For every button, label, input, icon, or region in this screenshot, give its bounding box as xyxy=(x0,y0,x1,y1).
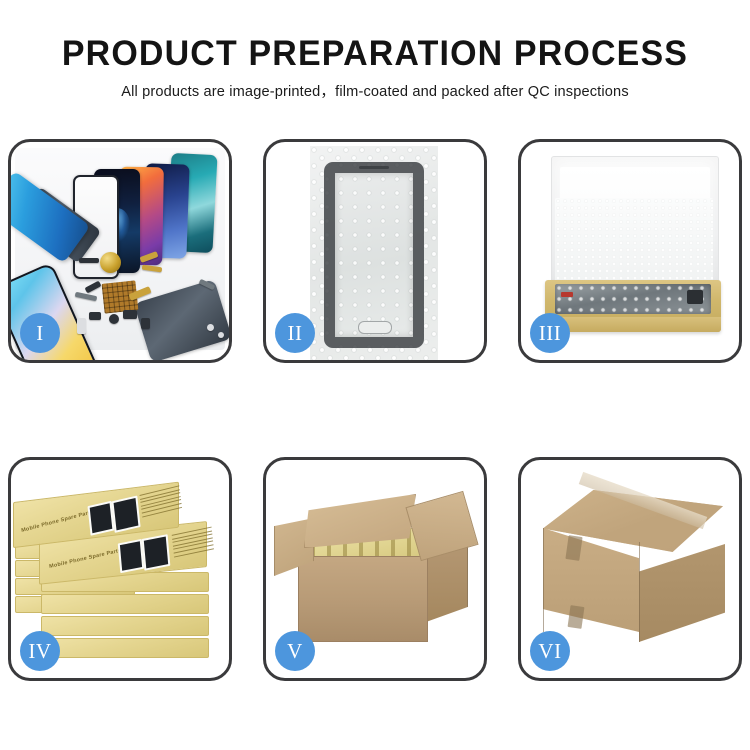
step-panel-4[interactable]: Mobile Phone Spare Parts Mobile Phone Sp… xyxy=(8,457,232,681)
step-badge: IV xyxy=(20,631,60,671)
camera-module xyxy=(123,310,137,319)
button-part xyxy=(109,314,119,324)
sim-tray xyxy=(77,318,86,334)
label-sticker xyxy=(561,292,573,297)
connector-block xyxy=(687,290,703,304)
step-badge: VI xyxy=(530,631,570,671)
page-title: PRODUCT PREPARATION PROCESS xyxy=(11,0,739,73)
carton-edge-seam xyxy=(543,528,544,632)
step-panel-6[interactable]: VI xyxy=(518,457,742,681)
stacked-box xyxy=(41,594,207,612)
small-part xyxy=(89,312,101,320)
step-badge: III xyxy=(530,313,570,353)
step-badge: V xyxy=(275,631,315,671)
box-window-screen xyxy=(142,534,171,571)
box-front-edge xyxy=(545,317,721,332)
small-part xyxy=(141,318,150,329)
carton-right-face xyxy=(639,544,725,642)
small-part xyxy=(79,258,99,263)
stacked-box xyxy=(41,616,207,634)
step-badge: I xyxy=(20,313,60,353)
foam-padding xyxy=(555,198,713,282)
step-panel-1[interactable]: I xyxy=(8,139,232,363)
step-panel-3[interactable]: III xyxy=(518,139,742,363)
carton-front-panel xyxy=(298,556,428,642)
page-subtitle: All products are image-printed，film-coat… xyxy=(0,73,750,102)
speaker-coil xyxy=(100,252,121,273)
header: PRODUCT PREPARATION PROCESS All products… xyxy=(0,0,750,101)
kraft-inner-box xyxy=(545,280,721,332)
wrapped-phone-screen xyxy=(324,162,424,348)
step-panel-2[interactable]: II xyxy=(263,139,487,363)
step-badge: II xyxy=(275,313,315,353)
carton-front-face xyxy=(543,528,639,632)
step-panel-5[interactable]: V xyxy=(263,457,487,681)
earpiece-slot xyxy=(359,166,389,169)
wrapped-screen-in-box xyxy=(555,284,711,314)
box-window-screen xyxy=(111,496,140,533)
carton-edge-seam xyxy=(639,542,640,642)
infographic-page: PRODUCT PREPARATION PROCESS All products… xyxy=(0,0,750,750)
screw xyxy=(207,324,214,331)
bubble-wrap-sheet xyxy=(310,146,438,360)
screw xyxy=(218,332,224,338)
home-button xyxy=(358,321,392,334)
stacked-box xyxy=(41,638,207,656)
steps-grid: I II xyxy=(8,139,743,684)
box-window-screen xyxy=(87,501,114,536)
box-window-screen xyxy=(118,539,145,573)
carton-flap-tab xyxy=(568,605,585,629)
